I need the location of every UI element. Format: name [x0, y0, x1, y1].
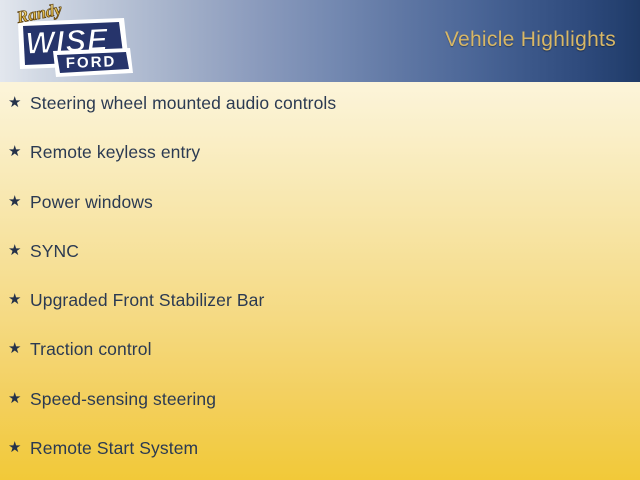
star-icon: ★ [8, 142, 30, 162]
star-icon: ★ [8, 93, 30, 113]
list-item-label: Traction control [30, 339, 152, 359]
list-item: ★ Remote keyless entry [0, 142, 640, 191]
dealer-logo[interactable]: Randy WISE FORD [4, 1, 138, 89]
list-item: ★ Steering wheel mounted audio controls [0, 93, 640, 142]
star-icon: ★ [8, 389, 30, 409]
list-item: ★ Remote Start System [0, 438, 640, 480]
list-item-label: SYNC [30, 241, 79, 261]
list-item-label: Remote keyless entry [30, 142, 200, 162]
list-item-label: Speed-sensing steering [30, 389, 216, 409]
star-icon: ★ [8, 339, 30, 359]
star-icon: ★ [8, 241, 30, 261]
list-item-label: Remote Start System [30, 438, 198, 458]
list-item: ★ Power windows [0, 192, 640, 241]
star-icon: ★ [8, 438, 30, 458]
list-item: ★ Speed-sensing steering [0, 389, 640, 438]
dealer-logo-graphic: Randy WISE FORD [4, 1, 138, 89]
list-item: ★ Traction control [0, 339, 640, 388]
list-item-label: Steering wheel mounted audio controls [30, 93, 336, 113]
vehicle-highlights-list: ★ Steering wheel mounted audio controls … [0, 93, 640, 480]
list-item-label: Power windows [30, 192, 153, 212]
logo-banner-text: FORD [66, 53, 117, 72]
star-icon: ★ [8, 192, 30, 212]
star-icon: ★ [8, 290, 30, 310]
list-item: ★ SYNC [0, 241, 640, 290]
list-item-label: Upgraded Front Stabilizer Bar [30, 290, 264, 310]
list-item: ★ Upgraded Front Stabilizer Bar [0, 290, 640, 339]
page-title: Vehicle Highlights [445, 28, 616, 52]
